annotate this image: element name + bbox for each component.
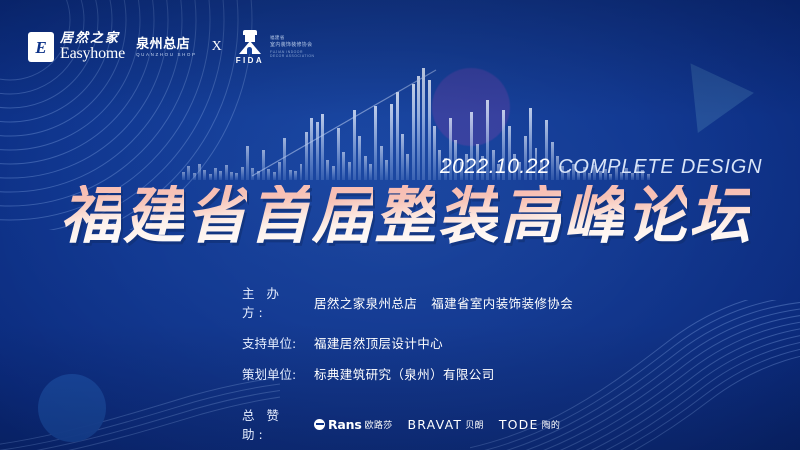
sponsor-cn-name: 贝朗	[465, 418, 484, 431]
fida-mark: FIDA	[236, 30, 264, 65]
info-row-value: 标典建筑研究（泉州）有限公司	[314, 364, 495, 383]
fida-tower-icon	[239, 30, 261, 56]
event-date-line: 2022.10.22 COMPLETE DESIGN	[440, 155, 762, 179]
info-row-label: 支持单位:	[242, 333, 314, 352]
title-char: 整	[374, 185, 435, 247]
event-tagline: COMPLETE DESIGN	[558, 156, 762, 179]
info-row-value-secondary: 福建省室内装饰装修协会	[431, 296, 573, 311]
title-char: 装	[437, 185, 498, 247]
sponsor-logo: TODE陶的	[499, 417, 560, 432]
event-poster: E 居然之家 Easyhome 泉州总店 QUANZHOU SHOP X FID…	[0, 0, 800, 450]
tower-door	[247, 47, 252, 54]
title-char: 首	[249, 185, 310, 247]
fida-cn-line2: 室内装饰装修协会	[270, 42, 314, 48]
sponsor-row: 总 赞 助:Rans欧路莎BRAVAT贝朗TODE陶的	[242, 405, 573, 443]
easyhome-mark-icon: E	[28, 32, 54, 62]
info-row-value-primary: 福建居然顶层设计中心	[314, 336, 443, 351]
orans-ring-icon	[314, 419, 325, 430]
info-row: 策划单位:标典建筑研究（泉州）有限公司	[242, 364, 573, 383]
title-char: 建	[123, 185, 184, 247]
title-char: 坛	[689, 185, 750, 247]
info-row-value: 福建居然顶层设计中心	[314, 333, 443, 352]
title-char: 届	[312, 185, 373, 247]
event-info-block: 主 办 方:居然之家泉州总店福建省室内装饰装修协会支持单位:福建居然顶层设计中心…	[242, 283, 573, 443]
shop-cn-name: 泉州总店	[136, 38, 197, 51]
shop-en-name: QUANZHOU SHOP	[136, 53, 197, 58]
easyhome-wordmark: 居然之家 Easyhome	[60, 32, 125, 61]
info-row: 主 办 方:居然之家泉州总店福建省室内装饰装修协会	[242, 283, 573, 321]
sponsor-cn-name: 欧路莎	[365, 418, 393, 431]
sponsor-en-name: Rans	[328, 417, 362, 432]
fida-abbr: FIDA	[236, 57, 264, 65]
sponsor-logo: Rans欧路莎	[314, 417, 393, 432]
title-char: 论	[626, 185, 687, 247]
fida-cn-line1: 福建省	[270, 35, 314, 41]
title-char: 省	[186, 185, 247, 247]
title-char: 峰	[563, 185, 624, 247]
fida-logo: FIDA 福建省 室内装饰装修协会 FUJIAN INDOOR DECOR AS…	[236, 30, 315, 65]
sponsor-row-label: 总 赞 助:	[242, 405, 314, 443]
info-row-value: 居然之家泉州总店福建省室内装饰装修协会	[314, 293, 573, 312]
sponsor-cn-name: 陶的	[542, 418, 561, 431]
easyhome-cn-name: 居然之家	[60, 32, 125, 45]
event-date: 2022.10.22	[440, 155, 550, 179]
easyhome-logo: E 居然之家 Easyhome	[28, 32, 125, 62]
fida-text-block: 福建省 室内装饰装修协会 FUJIAN INDOOR DECOR ASSOCIA…	[270, 35, 314, 58]
info-row-value-primary: 居然之家泉州总店	[314, 296, 417, 311]
info-row: 支持单位:福建居然顶层设计中心	[242, 333, 573, 352]
fida-en-line2: DECOR ASSOCIATION	[270, 54, 314, 58]
info-row-label: 主 办 方:	[242, 283, 314, 321]
title-char: 福	[60, 185, 121, 247]
page-title: 福建省首届整装高峰论坛	[60, 183, 750, 249]
header-logo-row: E 居然之家 Easyhome 泉州总店 QUANZHOU SHOP X FID…	[28, 26, 314, 68]
info-row-value-primary: 标典建筑研究（泉州）有限公司	[314, 367, 495, 382]
sponsor-logo: BRAVAT贝朗	[408, 417, 484, 432]
easyhome-en-name: Easyhome	[60, 46, 125, 61]
logo-separator-x: X	[212, 39, 222, 55]
sponsor-en-name: BRAVAT	[408, 417, 463, 432]
title-char: 高	[500, 185, 561, 247]
info-row-label: 策划单位:	[242, 364, 314, 383]
sponsor-en-name: TODE	[499, 417, 539, 432]
shop-name-block: 泉州总店 QUANZHOU SHOP	[136, 38, 197, 58]
sponsor-logo-list: Rans欧路莎BRAVAT贝朗TODE陶的	[314, 417, 560, 432]
